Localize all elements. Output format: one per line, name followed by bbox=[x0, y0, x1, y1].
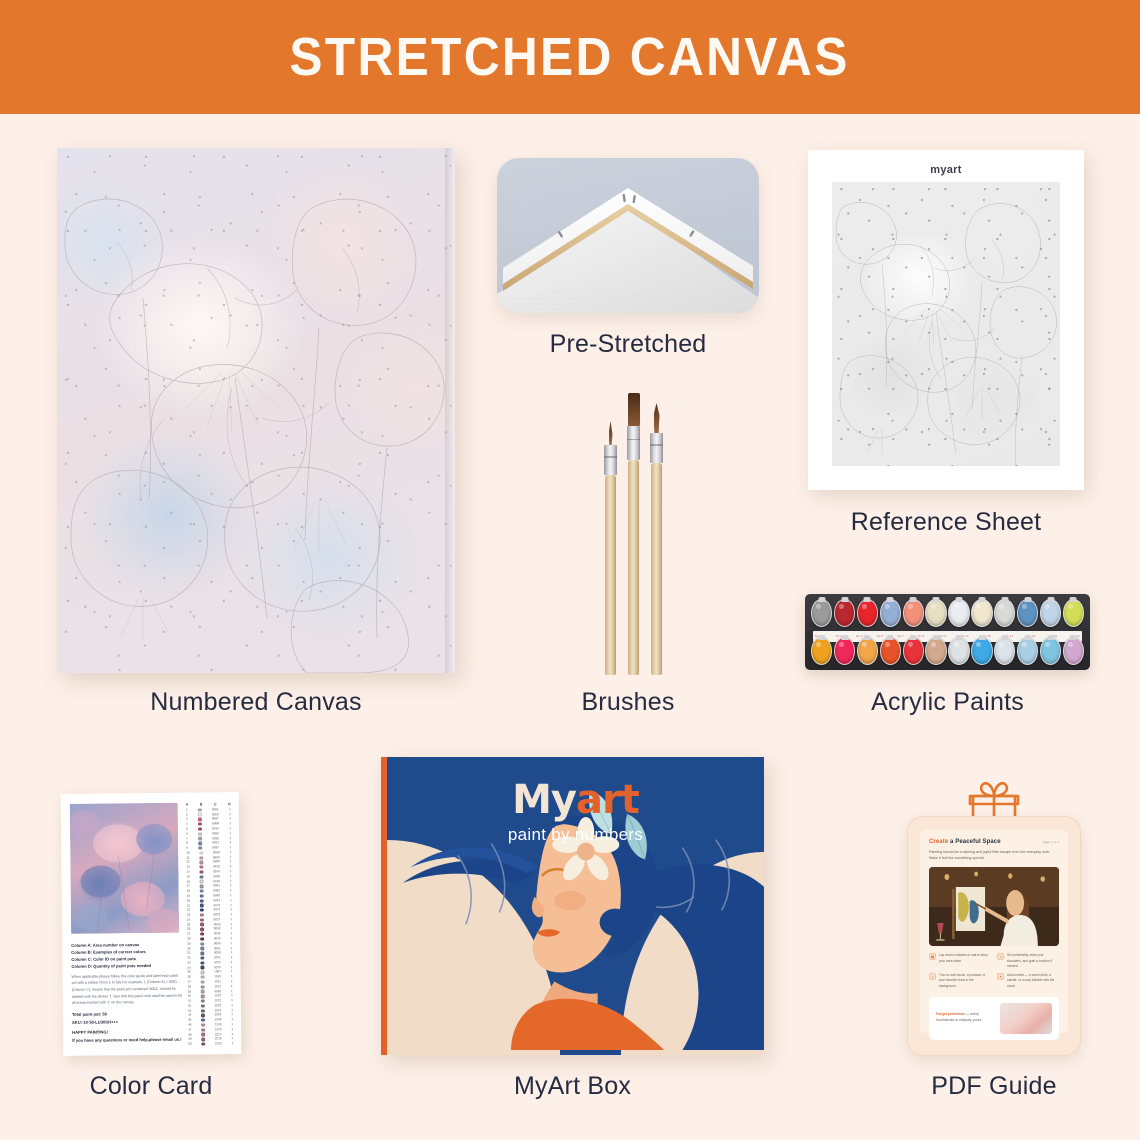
legend-quantity: 1 bbox=[229, 832, 231, 835]
paint-pot bbox=[948, 599, 969, 627]
legend-area-number: 47 bbox=[188, 1028, 191, 1031]
legend-quantity: 1 bbox=[231, 966, 233, 969]
paint-pot bbox=[1063, 637, 1084, 665]
brush-ferrule bbox=[627, 426, 640, 460]
contact-text: If you have any questions or need help,p… bbox=[72, 1036, 184, 1045]
legend-color-id: 1020 bbox=[214, 995, 221, 998]
legend-color-id: 2179 bbox=[215, 1028, 222, 1031]
legend-quantity: 1 bbox=[230, 875, 232, 878]
legend-area-number: 38 bbox=[188, 985, 191, 988]
pdf-guide-page: Create a Peaceful Space page 1 of 1 Pain… bbox=[920, 830, 1068, 1033]
myart-box-image: Myart paint by numbers bbox=[381, 757, 764, 1055]
legend-color-id: 0030 bbox=[212, 837, 219, 840]
paint-pot bbox=[948, 637, 969, 665]
legend-area-number: 30 bbox=[187, 947, 190, 950]
caption-acrylic-paints: Acrylic Paints bbox=[805, 688, 1090, 717]
mat-icon: ▦ bbox=[929, 953, 936, 960]
candle-icon: ✦ bbox=[997, 973, 1004, 980]
legend-area-number: 26 bbox=[187, 928, 190, 931]
legend-color-id: 0046 bbox=[214, 932, 221, 935]
legend-color-id: 0430 bbox=[213, 875, 220, 878]
legend-area-number: 45 bbox=[188, 1019, 191, 1022]
legend-color-swatch bbox=[198, 842, 201, 845]
legend-quantity: 1 bbox=[230, 894, 232, 897]
legend-quantity: 1 bbox=[232, 1038, 234, 1041]
legend-color-swatch bbox=[201, 975, 204, 978]
legend-color-id: 1011 bbox=[214, 980, 220, 983]
legend-color-swatch bbox=[199, 856, 202, 859]
legend-quantity: 1 bbox=[231, 1004, 233, 1007]
paint-pot bbox=[971, 599, 992, 627]
legend-color-swatch bbox=[201, 1033, 204, 1036]
reference-sheet-logo: myart bbox=[808, 164, 1084, 176]
paint-pot bbox=[925, 637, 946, 665]
legend-color-id: 1010 bbox=[214, 976, 221, 979]
legend-quantity: 1 bbox=[231, 956, 233, 959]
legend-area-number: 31 bbox=[187, 952, 190, 955]
paint-pot bbox=[880, 637, 901, 665]
legend-color-swatch bbox=[201, 1009, 204, 1012]
caption-myart-box: MyArt Box bbox=[381, 1072, 764, 1101]
legend-color-swatch bbox=[201, 1004, 204, 1007]
legend-quantity: 1 bbox=[231, 942, 233, 945]
pre-stretched-image bbox=[497, 158, 759, 313]
brushes-image bbox=[583, 385, 675, 675]
legend-color-swatch bbox=[200, 913, 203, 916]
legend-color-swatch bbox=[200, 894, 203, 897]
legend-quantity: 1 bbox=[231, 1028, 233, 1031]
legend-quantity: 1 bbox=[231, 990, 233, 993]
pdf-tip-item: ✦Add comfort — a warm drink, a candle, o… bbox=[997, 973, 1059, 989]
pdf-heading-accent: Create bbox=[929, 839, 948, 845]
legend-quantity: 1 bbox=[230, 908, 232, 911]
color-card-text: Column A: Area number on canvas Column B… bbox=[71, 941, 184, 1045]
legend-color-id: 0001 bbox=[212, 808, 219, 811]
legend-area-number: 12 bbox=[186, 861, 189, 864]
legend-quantity: 1 bbox=[232, 1042, 234, 1045]
pdf-tip-text: Lay down a blanket or mat to keep your a… bbox=[939, 953, 991, 964]
legend-quantity: 1 bbox=[229, 837, 231, 840]
legend-color-swatch bbox=[200, 932, 203, 935]
legend-color-id: 0059 bbox=[214, 952, 221, 955]
brush-bristles bbox=[609, 421, 613, 445]
legend-color-swatch bbox=[200, 909, 203, 912]
legend-color-swatch bbox=[201, 952, 204, 955]
legend-quantity: 1 bbox=[231, 961, 233, 964]
paint-pot bbox=[834, 637, 855, 665]
legend-quantity: 1 bbox=[230, 928, 232, 931]
legend-color-swatch bbox=[198, 846, 201, 849]
paint-pot bbox=[1017, 599, 1038, 627]
legend-color-id: 0067 bbox=[212, 818, 219, 821]
caption-numbered-canvas: Numbered Canvas bbox=[57, 688, 455, 717]
cushion-icon: ◑ bbox=[997, 953, 1004, 960]
caption-reference-sheet: Reference Sheet bbox=[808, 508, 1084, 537]
legend-color-swatch bbox=[201, 942, 204, 945]
legend-area-number: 41 bbox=[188, 1000, 191, 1003]
legend-color-id: 0062 bbox=[213, 889, 220, 892]
legend-quantity: 1 bbox=[230, 880, 232, 883]
legend-color-id: 0074 bbox=[214, 909, 221, 912]
legend-color-swatch bbox=[201, 990, 204, 993]
paint-pot bbox=[903, 637, 924, 665]
legend-area-number: 34 bbox=[187, 966, 190, 969]
legend-quantity: 1 bbox=[230, 918, 232, 921]
legend-color-swatch bbox=[200, 928, 203, 931]
paint-pot bbox=[903, 599, 924, 627]
product-infographic: STRETCHED CANVAS bbox=[0, 0, 1140, 1140]
brush-handle bbox=[605, 475, 616, 675]
paint-pot bbox=[834, 599, 855, 627]
legend-area-number: 36 bbox=[188, 976, 191, 979]
legend-quantity: 1 bbox=[230, 932, 232, 935]
legend-area-number: 1 bbox=[186, 809, 188, 812]
legend-area-number: 49 bbox=[188, 1038, 191, 1041]
paint-pot bbox=[971, 637, 992, 665]
legend-quantity: 1 bbox=[231, 999, 233, 1002]
legend-area-number: 43 bbox=[188, 1009, 191, 1012]
legend-color-swatch bbox=[200, 861, 203, 864]
legend-color-id: 1026 bbox=[215, 1014, 222, 1017]
legend-color-id: 0800 bbox=[213, 861, 220, 864]
legend-quantity: 1 bbox=[230, 923, 232, 926]
pdf-guide-photo bbox=[929, 867, 1059, 946]
legend-area-number: 21 bbox=[187, 904, 190, 907]
legend-quantity: 1 bbox=[231, 985, 233, 988]
legend-color-id: 0060 bbox=[214, 942, 221, 945]
legend-quantity: 1 bbox=[230, 913, 232, 916]
legend-color-id: 0026 bbox=[214, 923, 221, 926]
stretcher-bar-illustration bbox=[497, 158, 759, 313]
color-card-instructions: When applicable,please follow this color… bbox=[72, 972, 184, 1006]
paint-pot bbox=[1063, 599, 1084, 627]
legend-color-id: 2229 bbox=[215, 1042, 222, 1045]
color-card-image: ABCD 10001120009130067140068150015160099… bbox=[62, 793, 240, 1055]
pdf-heading-rest: a Peaceful Space bbox=[948, 839, 1000, 845]
legend-area-number: 7 bbox=[186, 837, 188, 840]
brush-round bbox=[651, 403, 662, 675]
caption-color-card: Color Card bbox=[40, 1072, 262, 1101]
color-card-photo bbox=[70, 803, 179, 934]
legend-quantity: 1 bbox=[231, 1014, 233, 1017]
legend-quantity: 1 bbox=[231, 980, 233, 983]
pdf-heading: Create a Peaceful Space bbox=[929, 839, 1001, 845]
legend-area-number: 11 bbox=[186, 856, 189, 859]
legend-color-id: 0601 bbox=[213, 885, 220, 888]
myart-box-front: Myart paint by numbers bbox=[381, 757, 764, 1055]
legend-area-number: 22 bbox=[187, 909, 190, 912]
legend-quantity: 1 bbox=[231, 947, 233, 950]
legend-area-number: 16 bbox=[187, 880, 190, 883]
legend-color-id: 0031 bbox=[212, 842, 219, 845]
legend-color-swatch bbox=[201, 999, 204, 1002]
legend-quantity: 1 bbox=[230, 889, 232, 892]
legend-color-swatch bbox=[198, 837, 201, 840]
legend-color-swatch bbox=[200, 918, 203, 921]
legend-quantity: 1 bbox=[231, 951, 233, 954]
legend-quantity: 1 bbox=[230, 861, 232, 864]
legend-color-id: 0440 bbox=[213, 880, 220, 883]
logo-text-my: My bbox=[512, 777, 576, 823]
legend-color-id: 1012 bbox=[214, 985, 221, 988]
pdf-tip-item: ◑Sit comfortably, relax your shoulders, … bbox=[997, 953, 1059, 969]
legend-color-swatch bbox=[201, 1019, 204, 1022]
pdf-tip-item: ▦Lay down a blanket or mat to keep your … bbox=[929, 953, 991, 969]
legend-color-swatch bbox=[200, 851, 203, 854]
paint-pot bbox=[994, 599, 1015, 627]
reference-sheet-artwork bbox=[832, 182, 1060, 466]
legend-quantity: 1 bbox=[231, 1033, 233, 1036]
brush-ferrule bbox=[604, 445, 617, 475]
legend-color-id: 0044 bbox=[213, 899, 220, 902]
numbered-canvas-image bbox=[57, 148, 455, 673]
legend-color-id: 0071 bbox=[214, 956, 221, 959]
legend-area-number: 33 bbox=[187, 961, 190, 964]
paint-tray: No.1No.2No.3No.5No.7No.9No.11No.13No.15N… bbox=[805, 594, 1090, 670]
legend-area-number: 4 bbox=[186, 823, 188, 826]
legend-header-cell: C bbox=[214, 802, 216, 806]
paint-pot bbox=[1040, 599, 1061, 627]
color-card-legend: ABCD 10001120009130067140068150015160099… bbox=[185, 802, 235, 1046]
legend-quantity: 1 bbox=[230, 904, 232, 907]
legend-color-id: 0098 bbox=[213, 851, 220, 854]
reference-line-art bbox=[832, 182, 1060, 466]
legend-area-number: 14 bbox=[186, 871, 189, 874]
legend-quantity: 1 bbox=[231, 971, 233, 974]
legend-quantity: 1 bbox=[231, 1009, 233, 1012]
column-d-line: Column D: Quantity of paint pots needed bbox=[71, 962, 183, 970]
legend-header-cell: D bbox=[228, 802, 230, 806]
pdf-heading-row: Create a Peaceful Space page 1 of 1 bbox=[929, 839, 1059, 845]
box-tagline: paint by numbers bbox=[387, 825, 764, 845]
caption-brushes: Brushes bbox=[497, 688, 759, 717]
pdf-guide-image: Create a Peaceful Space page 1 of 1 Pain… bbox=[899, 778, 1089, 1056]
legend-quantity: 1 bbox=[229, 818, 231, 821]
legend-area-number: 29 bbox=[187, 942, 190, 945]
pdf-tip-item: ♪Turn on soft music, a podcast, or your … bbox=[929, 973, 991, 989]
legend-color-id: 2217 bbox=[215, 1033, 222, 1036]
legend-color-swatch bbox=[200, 904, 203, 907]
legend-header-cell: A bbox=[186, 803, 188, 807]
sku-text: SKU:-10-50-LU30SH+++ bbox=[72, 1017, 184, 1026]
legend-area-number: 32 bbox=[187, 957, 190, 960]
brush-bristles bbox=[654, 403, 660, 433]
legend-area-number: 24 bbox=[187, 918, 190, 921]
pdf-footer-note: Forget perfection — every brushstroke is… bbox=[929, 997, 1059, 1040]
pdf-footer-accent: Forget perfection bbox=[936, 1012, 965, 1016]
legend-area-number: 9 bbox=[186, 847, 188, 850]
legend-quantity: 1 bbox=[229, 813, 231, 816]
canvas-line-art bbox=[57, 148, 455, 673]
legend-color-swatch bbox=[200, 866, 203, 869]
legend-color-swatch bbox=[202, 1042, 205, 1045]
legend-area-number: 8 bbox=[186, 842, 188, 845]
legend-color-id: 1021 bbox=[214, 999, 221, 1002]
legend-color-swatch bbox=[201, 971, 204, 974]
legend-color-swatch bbox=[201, 985, 204, 988]
legend-quantity: 1 bbox=[229, 822, 231, 825]
legend-color-id: 0073 bbox=[214, 966, 221, 969]
legend-color-id: 0045 bbox=[214, 937, 221, 940]
legend-quantity: 1 bbox=[230, 856, 232, 859]
legend-quantity: 1 bbox=[231, 995, 233, 998]
canvas-side-edge bbox=[445, 148, 455, 673]
pdf-page-number: page 1 of 1 bbox=[1043, 840, 1059, 844]
legend-area-number: 35 bbox=[187, 971, 190, 974]
legend-color-id: 0543 bbox=[213, 870, 220, 873]
legend-quantity: 1 bbox=[231, 1018, 233, 1021]
legend-rows: 1000112000913006714006815001516009917003… bbox=[185, 807, 235, 1046]
legend-color-id: 1024 bbox=[215, 1009, 222, 1012]
caption-pdf-guide: PDF Guide bbox=[878, 1072, 1110, 1101]
legend-quantity: 1 bbox=[231, 975, 233, 978]
acrylic-paints-image: No.1No.2No.3No.5No.7No.9No.11No.13No.15N… bbox=[805, 594, 1090, 670]
color-card-sheet: ABCD 10001120009130067140068150015160099… bbox=[61, 792, 242, 1056]
legend-area-number: 18 bbox=[187, 890, 190, 893]
legend-area-number: 6 bbox=[186, 832, 188, 835]
legend-area-number: 50 bbox=[188, 1043, 191, 1046]
legend-color-id: 0061 bbox=[214, 947, 221, 950]
paint-pot bbox=[880, 599, 901, 627]
brush-handle bbox=[628, 460, 639, 675]
legend-color-id: 0009 bbox=[212, 813, 219, 816]
legend-area-number: 15 bbox=[186, 875, 189, 878]
paint-pot bbox=[925, 599, 946, 627]
canvas-corner-photo bbox=[497, 158, 759, 313]
paint-row-top bbox=[811, 599, 1084, 627]
pdf-footer-thumbnail bbox=[1000, 1003, 1052, 1034]
legend-color-swatch bbox=[201, 961, 204, 964]
legend-quantity: 1 bbox=[230, 885, 232, 888]
legend-color-swatch bbox=[201, 1014, 204, 1017]
legend-area-number: 2 bbox=[186, 813, 188, 816]
legend-color-id: 0099 bbox=[212, 832, 219, 835]
legend-quantity: 1 bbox=[229, 827, 231, 830]
legend-quantity: 1 bbox=[230, 937, 232, 940]
legend-quantity: 1 bbox=[231, 1023, 233, 1026]
color-card-floral-art bbox=[70, 803, 179, 934]
legend-color-id: 1022 bbox=[215, 1004, 222, 1007]
canvas-artwork bbox=[57, 148, 455, 673]
brush-ferrule bbox=[650, 433, 663, 463]
paint-pot bbox=[994, 637, 1015, 665]
music-icon: ♪ bbox=[929, 973, 936, 980]
paint-pot bbox=[857, 599, 878, 627]
legend-color-id: 0072 bbox=[213, 904, 220, 907]
paint-pot bbox=[1040, 637, 1061, 665]
legend-color-id: 0027 bbox=[214, 918, 221, 921]
pdf-footer-text: Forget perfection — every brushstroke is… bbox=[936, 1012, 994, 1024]
legend-color-swatch bbox=[201, 995, 204, 998]
legend-area-number: 19 bbox=[187, 895, 190, 898]
page-title: STRETCHED CANVAS bbox=[290, 26, 850, 88]
legend-color-swatch bbox=[201, 980, 204, 983]
legend-color-swatch bbox=[198, 827, 201, 830]
legend-color-swatch bbox=[200, 889, 203, 892]
legend-area-number: 5 bbox=[186, 828, 188, 831]
reference-sheet-image: myart bbox=[808, 150, 1084, 490]
legend-color-swatch bbox=[201, 1023, 204, 1026]
legend-color-swatch bbox=[201, 947, 204, 950]
legend-area-number: 27 bbox=[187, 933, 190, 936]
legend-color-swatch bbox=[200, 870, 203, 873]
legend-area-number: 46 bbox=[188, 1024, 191, 1027]
legend-area-number: 37 bbox=[188, 981, 191, 984]
pdf-tip-text: Add comfort — a warm drink, a candle, or… bbox=[1007, 973, 1059, 989]
legend-area-number: 40 bbox=[188, 995, 191, 998]
brush-bristles bbox=[628, 393, 640, 426]
pdf-tip-text: Turn on soft music, a podcast, or your f… bbox=[939, 973, 991, 989]
legend-color-id: 0063 bbox=[213, 894, 220, 897]
pdf-guide-card: Create a Peaceful Space page 1 of 1 Pain… bbox=[907, 816, 1081, 1056]
legend-color-id: 2140 bbox=[215, 1023, 222, 1026]
paint-pot bbox=[1017, 637, 1038, 665]
legend-color-swatch bbox=[200, 875, 203, 878]
legend-color-swatch bbox=[198, 808, 201, 811]
legend-color-id: 0072 bbox=[214, 961, 221, 964]
pdf-tips-list: ▦Lay down a blanket or mat to keep your … bbox=[929, 953, 1059, 989]
legend-color-swatch bbox=[201, 956, 204, 959]
legend-area-number: 23 bbox=[187, 914, 190, 917]
caption-pre-stretched: Pre-Stretched bbox=[497, 330, 759, 359]
legend-color-swatch bbox=[198, 822, 201, 825]
legend-color-id: 0099 bbox=[214, 928, 221, 931]
legend-area-number: 44 bbox=[188, 1014, 191, 1017]
legend-quantity: 1 bbox=[229, 842, 231, 845]
legend-header-cell: B bbox=[200, 802, 202, 806]
legend-color-swatch bbox=[200, 923, 203, 926]
legend-quantity: 1 bbox=[229, 808, 231, 811]
legend-area-number: 17 bbox=[187, 885, 190, 888]
legend-color-id: 0068 bbox=[212, 823, 219, 826]
legend-quantity: 1 bbox=[230, 870, 232, 873]
legend-color-swatch bbox=[198, 813, 201, 816]
painter-scene-illustration bbox=[929, 867, 1059, 946]
logo-text-art: art bbox=[576, 777, 639, 823]
legend-area-number: 13 bbox=[186, 866, 189, 869]
paint-pot bbox=[811, 599, 832, 627]
reference-sheet-paper: myart bbox=[808, 150, 1084, 490]
legend-color-swatch bbox=[201, 1028, 204, 1031]
legend-color-id: 2216 bbox=[215, 1038, 222, 1041]
legend-area-number: 42 bbox=[188, 1005, 191, 1008]
legend-color-id: 0420 bbox=[213, 866, 220, 869]
legend-area-number: 28 bbox=[187, 938, 190, 941]
legend-color-id: 0097 bbox=[212, 846, 219, 849]
legend-color-swatch bbox=[201, 966, 204, 969]
brush-handle bbox=[651, 463, 662, 675]
brush-liner bbox=[605, 423, 616, 675]
legend-color-swatch bbox=[198, 832, 201, 835]
legend-color-id: 0063 bbox=[214, 990, 221, 993]
legend-color-id: 0025 bbox=[214, 913, 221, 916]
paint-row-bottom bbox=[811, 637, 1084, 665]
legend-area-number: 39 bbox=[188, 990, 191, 993]
myart-logo: Myart bbox=[387, 777, 764, 823]
legend-area-number: 48 bbox=[188, 1033, 191, 1036]
legend-quantity: 1 bbox=[230, 851, 232, 854]
brush-flat bbox=[628, 393, 639, 675]
pdf-intro-text: Painting should be a calming and joyful … bbox=[929, 849, 1059, 861]
legend-color-id: 0600 bbox=[213, 856, 220, 859]
legend-color-swatch bbox=[202, 1038, 205, 1041]
legend-color-swatch bbox=[198, 818, 201, 821]
legend-area-number: 20 bbox=[187, 899, 190, 902]
pdf-tip-text: Sit comfortably, relax your shoulders, a… bbox=[1007, 953, 1059, 969]
paint-pot bbox=[857, 637, 878, 665]
legend-color-id: 0015 bbox=[212, 827, 219, 830]
legend-quantity: 1 bbox=[229, 846, 231, 849]
